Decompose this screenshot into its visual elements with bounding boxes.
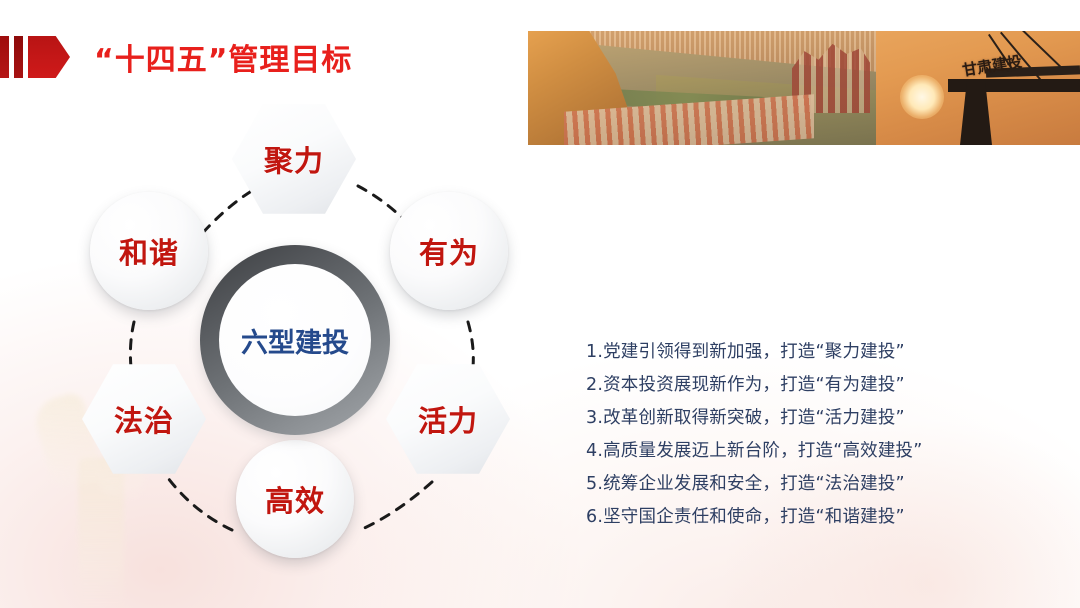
red-arrow-marker-icon [0,36,70,78]
header-photo-banner: 甘肃建投 [528,31,1080,145]
diagram-node-label: 有为 [419,230,479,272]
diagram-node-label: 法治 [114,398,174,440]
diagram-node-huoli[interactable]: 活力 [386,362,510,476]
slide-canvas: “十四五”管理目标 甘肃建投 [0,0,1080,608]
diagram-center-ring: 六型建投 [200,245,390,435]
diagram-node-hexie[interactable]: 和谐 [90,192,208,310]
diagram-node-label: 聚力 [264,138,324,180]
sun-icon [900,75,944,119]
goal-list-item: 6.坚守国企责任和使命，打造“和谐建投” [586,501,1056,534]
goal-list-item: 2.资本投资展现新作为，打造“有为建投” [586,369,1056,402]
diagram-node-fazhi[interactable]: 法治 [82,362,206,476]
page-title: “十四五”管理目标 [94,35,352,79]
goal-list-item: 1.党建引领得到新加强，打造“聚力建投” [586,336,1056,369]
crane-sunset-photo: 甘肃建投 [876,31,1080,145]
slide-title-row: “十四五”管理目标 [0,32,352,82]
goal-list: 1.党建引领得到新加强，打造“聚力建投” 2.资本投资展现新作为，打造“有为建投… [586,336,1056,534]
goal-list-item: 5.统筹企业发展和安全，打造“法治建投” [586,468,1056,501]
diagram-node-label: 活力 [418,398,478,440]
diagram-center-label: 六型建投 [241,321,349,360]
link-gaoxiao-fazhi [168,478,232,530]
diagram-node-youwei[interactable]: 有为 [390,192,508,310]
diagram-node-label: 高效 [265,478,325,520]
city-aerial-photo [528,31,876,145]
goal-list-item: 3.改革创新取得新突破，打造“活力建投” [586,402,1056,435]
diagram-node-gaoxiao[interactable]: 高效 [236,440,354,558]
diagram-node-juli[interactable]: 聚力 [232,102,356,216]
six-type-diagram: 聚力 有为 活力 高效 法治 和谐 六型建投 [60,100,530,570]
diagram-node-label: 和谐 [119,230,179,272]
goal-list-item: 4.高质量发展迈上新台阶，打造“高效建投” [586,435,1056,468]
link-huoli-gaoxiao [360,482,432,530]
